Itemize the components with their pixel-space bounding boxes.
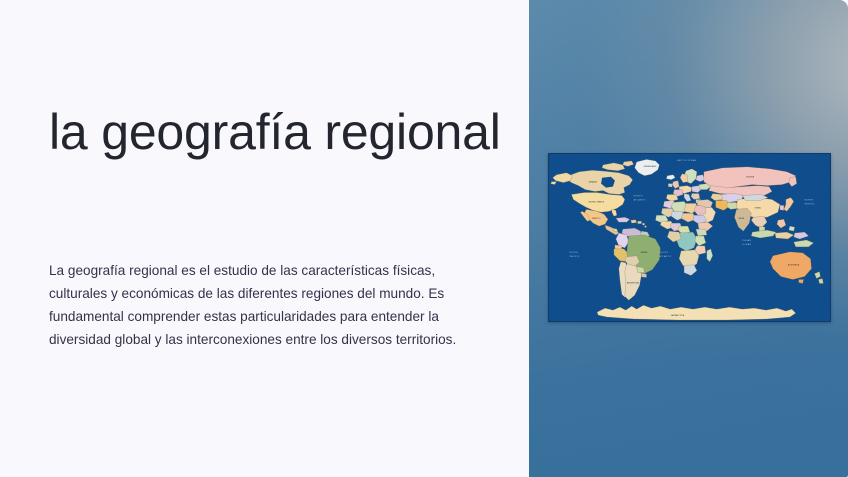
world-map-image: .lnd { stroke:#7a6a44; stroke-width:0.5;… — [548, 153, 831, 322]
page-title: la geografía regional — [49, 104, 519, 160]
svg-text:SOUTH: SOUTH — [659, 252, 668, 254]
world-map-svg: .lnd { stroke:#7a6a44; stroke-width:0.5;… — [549, 154, 830, 321]
slide-text-column: la geografía regional La geografía regio… — [0, 0, 529, 477]
svg-text:NORTH: NORTH — [634, 195, 643, 197]
slide-body-text: La geografía regional es el estudio de l… — [49, 259, 461, 351]
svg-text:SOUTH: SOUTH — [569, 252, 578, 254]
presentation-slide: la geografía regional La geografía regio… — [0, 0, 848, 477]
svg-text:NORTH: NORTH — [805, 199, 814, 201]
slide-image-panel: .lnd { stroke:#7a6a44; stroke-width:0.5;… — [529, 0, 848, 477]
svg-text:MEXICO: MEXICO — [592, 218, 601, 220]
